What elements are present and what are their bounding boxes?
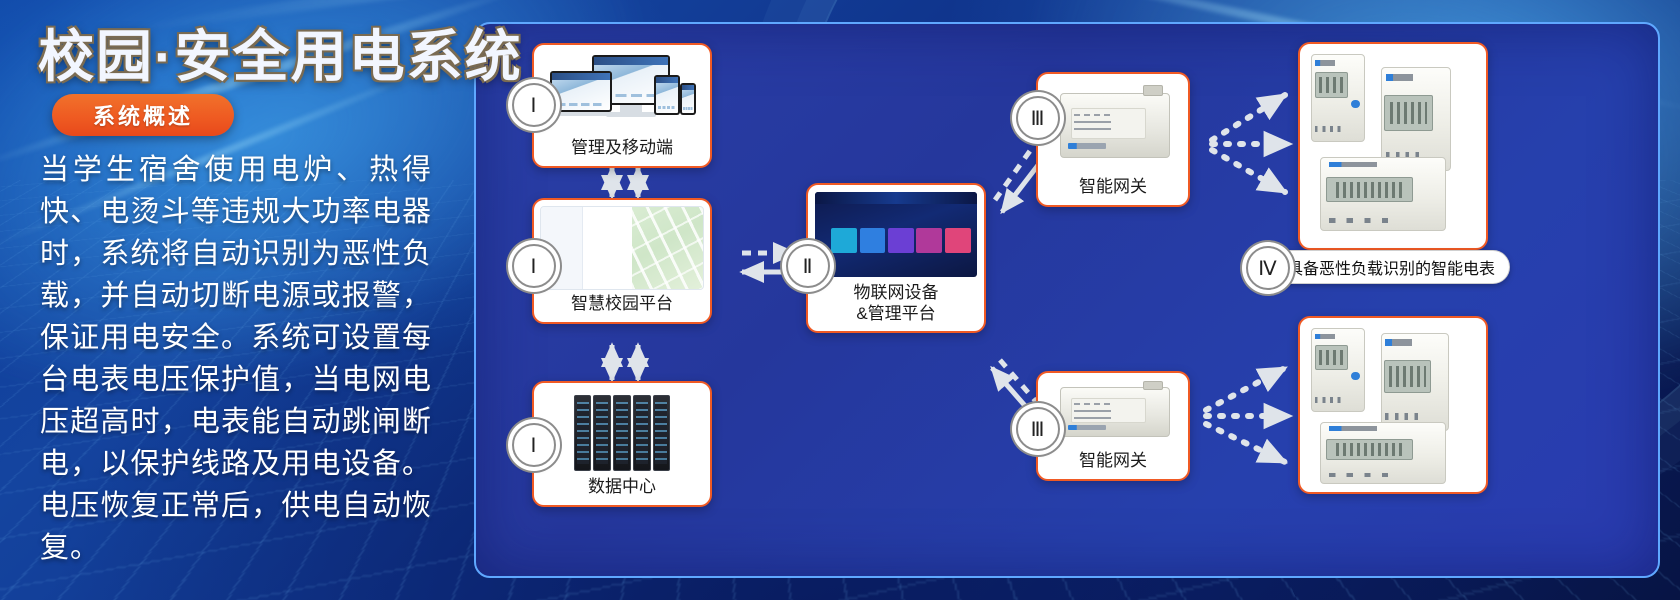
smart-gateway-icon bbox=[1052, 80, 1178, 171]
server-rack-icon bbox=[570, 395, 674, 471]
dashboard-map-icon bbox=[540, 206, 704, 290]
node-label-admin-mobile: 管理及移动端 bbox=[534, 137, 710, 158]
node-card-iot-platform[interactable]: Ⅱ 物联网设备 &管理平台 bbox=[806, 183, 986, 333]
node-label-campus-platform: 智慧校园平台 bbox=[534, 293, 710, 314]
dark-dashboard-icon bbox=[815, 192, 977, 277]
multi-device-screens-icon bbox=[534, 53, 710, 132]
node-card-gateway-top[interactable]: Ⅲ 智能网关 bbox=[1036, 72, 1190, 207]
meter-group-bottom[interactable] bbox=[1298, 316, 1488, 494]
node-badge-1: Ⅰ bbox=[512, 423, 556, 467]
node-badge-3: Ⅲ bbox=[1016, 96, 1060, 140]
node-label-iot-platform-2: &管理平台 bbox=[808, 303, 984, 324]
din-rail-meter-icon bbox=[1308, 152, 1458, 236]
node-badge-4: Ⅳ bbox=[1246, 246, 1290, 290]
node-label-smart-meter-iv[interactable]: Ⅳ 具备恶性负载识别的智能电表 bbox=[1246, 250, 1510, 284]
node-label-gateway-bottom: 智能网关 bbox=[1038, 450, 1188, 471]
node-card-campus-platform[interactable]: Ⅰ 智慧校园平台 bbox=[532, 198, 712, 324]
node-label-smart-meter-text: 具备恶性负载识别的智能电表 bbox=[1287, 255, 1495, 279]
single-phase-meter-icon bbox=[1306, 48, 1370, 148]
din-rail-meter-icon bbox=[1308, 418, 1458, 488]
node-badge-3: Ⅲ bbox=[1016, 407, 1060, 451]
node-label-gateway-top: 智能网关 bbox=[1038, 176, 1188, 197]
node-badge-1: Ⅰ bbox=[512, 83, 556, 127]
node-label-iot-platform: 物联网设备 bbox=[808, 282, 984, 303]
smart-gateway-icon bbox=[1052, 377, 1178, 447]
node-badge-2: Ⅱ bbox=[786, 244, 830, 288]
node-label-data-center: 数据中心 bbox=[534, 476, 710, 497]
single-phase-meter-icon bbox=[1306, 322, 1370, 418]
node-card-admin-mobile[interactable]: Ⅰ 管理及移动端 bbox=[532, 43, 712, 168]
node-card-gateway-bottom[interactable]: Ⅲ 智能网关 bbox=[1036, 371, 1190, 481]
node-badge-1: Ⅰ bbox=[512, 244, 556, 288]
meter-group-top[interactable] bbox=[1298, 42, 1488, 250]
node-card-data-center[interactable]: Ⅰ 数据中心 bbox=[532, 381, 712, 507]
